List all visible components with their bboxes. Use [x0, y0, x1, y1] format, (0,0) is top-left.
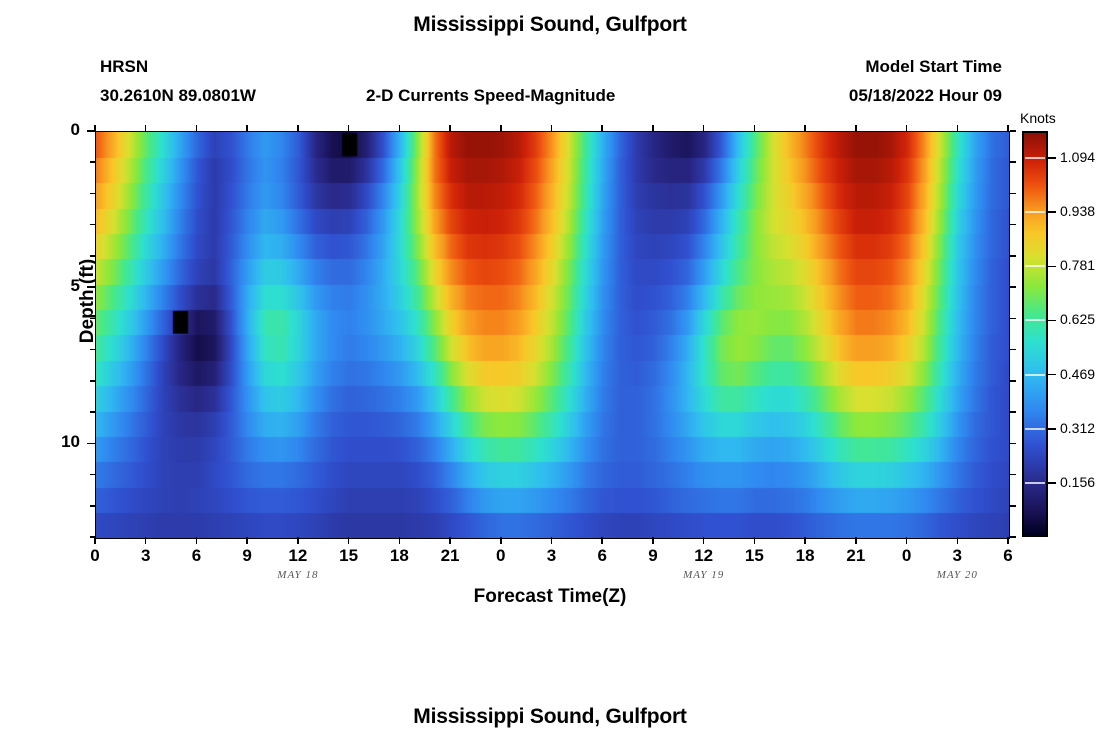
colorbar-tick — [1048, 266, 1056, 268]
bottom-title: Mississippi Sound, Gulfport — [0, 705, 1100, 729]
x-axis-tick — [297, 537, 299, 544]
y-axis-right-tick — [1010, 443, 1016, 445]
y-axis-minor-tick — [90, 536, 95, 538]
x-axis-tick-label: 12 — [684, 546, 724, 566]
x-axis-tick-top — [703, 125, 705, 131]
colorbar-tick — [1048, 482, 1056, 484]
station-coordinates-label: 30.2610N 89.0801W — [100, 86, 256, 106]
x-axis-tick-top — [957, 125, 959, 131]
y-axis-minor-tick — [90, 349, 95, 351]
colorbar-tick-label: 0.781 — [1060, 257, 1095, 273]
x-axis-tick-top — [804, 125, 806, 131]
y-axis-tick-label: 10 — [20, 432, 80, 452]
heatmap-canvas — [96, 132, 1009, 538]
x-axis-tick-label: 21 — [836, 546, 876, 566]
y-axis-tick-label: 0 — [20, 120, 80, 140]
x-axis-tick-top — [906, 125, 908, 131]
colorbar-tick — [1048, 374, 1056, 376]
y-axis-minor-tick — [90, 224, 95, 226]
y-axis-minor-tick — [90, 318, 95, 320]
colorbar: 0.1560.3120.4690.6250.7810.9381.094 — [1022, 131, 1100, 537]
y-axis-right-tick — [1010, 286, 1016, 288]
x-axis-tick — [957, 537, 959, 544]
colorbar-tick-label: 0.312 — [1060, 420, 1095, 436]
x-axis-tick — [703, 537, 705, 544]
y-axis-right-tick — [1010, 161, 1016, 163]
y-axis-right-tick — [1010, 536, 1016, 538]
colorbar-tick-label: 0.156 — [1060, 474, 1095, 490]
x-axis-tick — [500, 537, 502, 544]
x-axis-tick-label: 9 — [227, 546, 267, 566]
colorbar-tick — [1048, 157, 1056, 159]
x-axis-day-label: MAY 19 — [659, 569, 749, 581]
chart-page: Mississippi Sound, Gulfport HRSN 30.2610… — [0, 0, 1100, 750]
x-axis-tick-top — [246, 125, 248, 131]
x-axis-tick — [449, 537, 451, 544]
x-axis-tick-top — [196, 125, 198, 131]
colorbar-tick-label: 1.094 — [1060, 149, 1095, 165]
colorbar-tick-label: 0.469 — [1060, 366, 1095, 382]
y-axis-right-tick — [1010, 318, 1016, 320]
y-axis-minor-tick — [90, 380, 95, 382]
y-axis-right-tick — [1010, 224, 1016, 226]
model-start-time-label: Model Start Time — [865, 57, 1002, 77]
x-axis-tick — [601, 537, 603, 544]
colorbar-inner-dash — [1025, 157, 1045, 159]
x-axis-tick — [804, 537, 806, 544]
x-axis-tick — [145, 537, 147, 544]
x-axis-day-label: MAY 20 — [912, 569, 1002, 581]
x-axis-tick-top — [601, 125, 603, 131]
colorbar-inner-dash — [1025, 428, 1045, 430]
x-axis-tick-top — [348, 125, 350, 131]
colorbar-tick — [1048, 211, 1056, 213]
x-axis-tick-top — [145, 125, 147, 131]
y-axis-right-tick — [1010, 411, 1016, 413]
x-axis-tick — [94, 537, 96, 544]
x-axis-tick-label: 0 — [75, 546, 115, 566]
model-start-time-value: 05/18/2022 Hour 09 — [849, 86, 1002, 106]
x-axis-tick-top — [297, 125, 299, 131]
x-axis-day-label: MAY 18 — [253, 569, 343, 581]
y-axis-right-tick — [1010, 193, 1016, 195]
y-axis-minor-tick — [90, 255, 95, 257]
x-axis-tick-top — [551, 125, 553, 131]
y-axis-tick — [87, 443, 95, 445]
x-axis-tick-label: 3 — [126, 546, 166, 566]
y-axis-tick — [87, 286, 95, 288]
colorbar-tick — [1048, 428, 1056, 430]
x-axis-tick-top — [399, 125, 401, 131]
colorbar-canvas — [1022, 131, 1048, 537]
y-axis-minor-tick — [90, 411, 95, 413]
x-axis-tick-label: 6 — [176, 546, 216, 566]
x-axis-tick-label: 18 — [379, 546, 419, 566]
colorbar-inner-dash — [1025, 265, 1045, 267]
colorbar-inner-dash — [1025, 319, 1045, 321]
x-axis-tick-label: 6 — [988, 546, 1028, 566]
x-axis-title: Forecast Time(Z) — [0, 586, 1100, 608]
x-axis-tick-top — [1007, 125, 1009, 131]
x-axis-tick-label: 3 — [937, 546, 977, 566]
x-axis-tick — [754, 537, 756, 544]
x-axis-tick-label: 0 — [887, 546, 927, 566]
colorbar-tick — [1048, 320, 1056, 322]
x-axis-tick — [906, 537, 908, 544]
x-axis-tick-top — [500, 125, 502, 131]
x-axis-tick — [855, 537, 857, 544]
x-axis-tick-label: 15 — [329, 546, 369, 566]
x-axis-tick-label: 3 — [532, 546, 572, 566]
y-axis-minor-tick — [90, 505, 95, 507]
x-axis-tick-top — [855, 125, 857, 131]
y-axis-minor-tick — [90, 193, 95, 195]
x-axis-tick — [652, 537, 654, 544]
x-axis-tick — [246, 537, 248, 544]
colorbar-tick-label: 0.938 — [1060, 203, 1095, 219]
y-axis-right-tick — [1010, 255, 1016, 257]
x-axis-tick-top — [652, 125, 654, 131]
page-title: Mississippi Sound, Gulfport — [0, 13, 1100, 37]
x-axis-tick-top — [754, 125, 756, 131]
x-axis-tick-top — [449, 125, 451, 131]
heatmap-plot-area — [95, 131, 1010, 539]
x-axis-tick-label: 12 — [278, 546, 318, 566]
x-axis-tick-label: 21 — [430, 546, 470, 566]
x-axis-tick-label: 0 — [481, 546, 521, 566]
y-axis-right-tick — [1010, 130, 1016, 132]
y-axis-minor-tick — [90, 161, 95, 163]
y-axis-right-tick — [1010, 474, 1016, 476]
chart-subtitle: 2-D Currents Speed-Magnitude — [366, 86, 615, 106]
y-axis-tick-label: 5 — [20, 276, 80, 296]
station-id-label: HRSN — [100, 57, 148, 77]
colorbar-title: Knots — [1020, 110, 1056, 126]
y-axis-minor-tick — [90, 474, 95, 476]
colorbar-inner-dash — [1025, 374, 1045, 376]
x-axis-tick — [196, 537, 198, 544]
x-axis-tick-label: 18 — [785, 546, 825, 566]
y-axis-right-tick — [1010, 380, 1016, 382]
x-axis-tick — [399, 537, 401, 544]
colorbar-inner-dash — [1025, 482, 1045, 484]
y-axis-right-tick — [1010, 505, 1016, 507]
y-axis-tick — [87, 130, 95, 132]
x-axis-tick-label: 9 — [633, 546, 673, 566]
x-axis-tick — [348, 537, 350, 544]
colorbar-tick-label: 0.625 — [1060, 311, 1095, 327]
x-axis-tick — [1007, 537, 1009, 544]
x-axis-tick-label: 6 — [582, 546, 622, 566]
x-axis-tick — [551, 537, 553, 544]
colorbar-inner-dash — [1025, 211, 1045, 213]
x-axis-tick-label: 15 — [734, 546, 774, 566]
y-axis-right-tick — [1010, 349, 1016, 351]
